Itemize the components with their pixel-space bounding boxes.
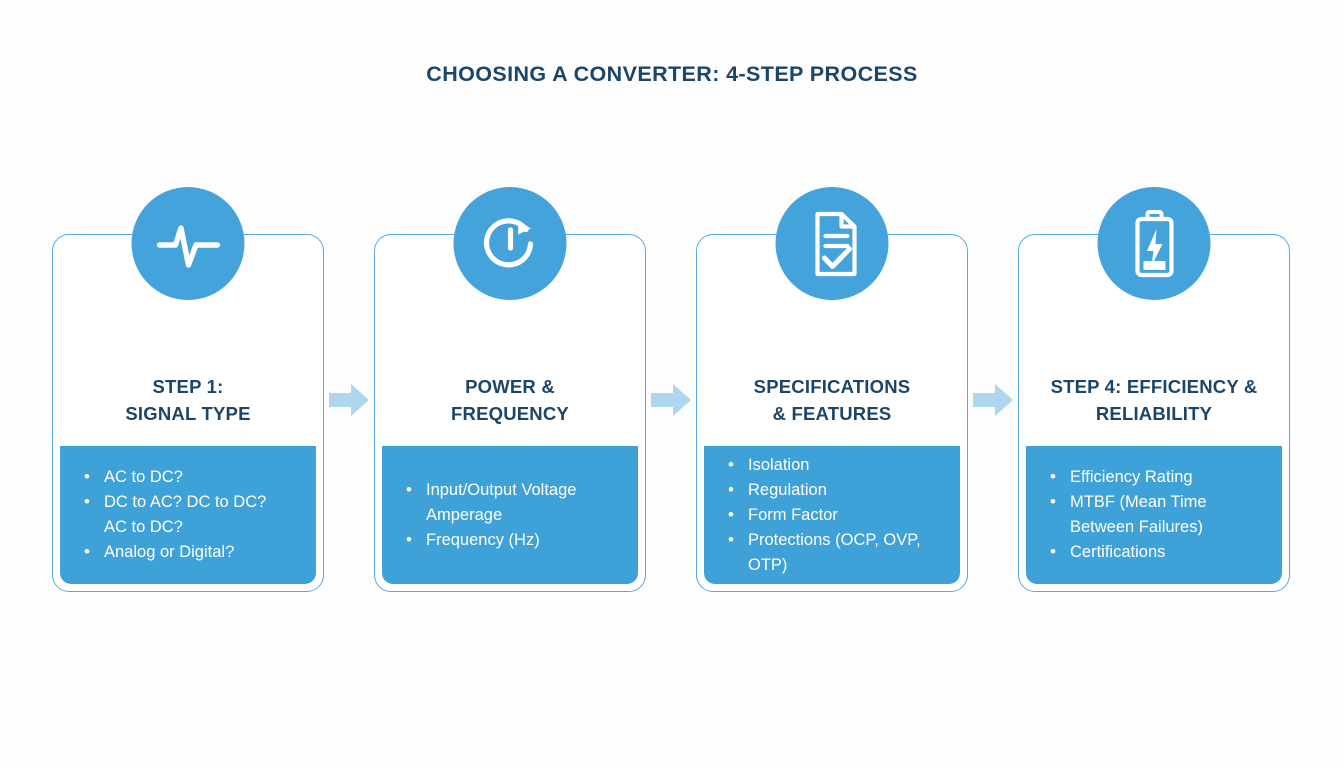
list-item: Input/Output Voltage	[398, 478, 624, 503]
list-item: Protections (OCP, OVP,	[720, 528, 946, 553]
card-heading-2-line1: POWER &	[465, 376, 555, 397]
card-body-1: AC to DC? DC to AC? DC to DC? AC to DC? …	[60, 446, 316, 584]
card-heading-4: STEP 4: EFFICIENCY & RELIABILITY	[1027, 373, 1281, 427]
bullet-list-3: Isolation Regulation Form Factor Protect…	[720, 453, 946, 578]
card-heading-1-line1: STEP 1:	[153, 376, 224, 397]
list-item: Certifications	[1042, 540, 1268, 565]
list-item: Amperage	[398, 503, 624, 528]
bullet-list-1: AC to DC? DC to AC? DC to DC? AC to DC? …	[76, 465, 302, 565]
card-heading-3: SPECIFICATIONS & FEATURES	[705, 373, 959, 427]
card-body-3: Isolation Regulation Form Factor Protect…	[704, 446, 960, 584]
list-item: Form Factor	[720, 503, 946, 528]
card-heading-3-line1: SPECIFICATIONS	[754, 376, 911, 397]
card-heading-3-line2: & FEATURES	[773, 403, 892, 424]
arrow-connector-1	[324, 187, 374, 597]
arrow-connector-2	[646, 187, 696, 597]
process-flow: STEP 1: SIGNAL TYPE AC to DC? DC to AC? …	[52, 187, 1292, 597]
arrow-connector-3	[968, 187, 1018, 597]
card-body-2: Input/Output Voltage Amperage Frequency …	[382, 446, 638, 584]
list-item: Isolation	[720, 453, 946, 478]
page-title: CHOOSING A CONVERTER: 4-STEP PROCESS	[0, 62, 1344, 87]
bullet-list-2: Input/Output Voltage Amperage Frequency …	[398, 478, 624, 553]
document-check-icon	[776, 187, 889, 300]
list-item: AC to DC?	[76, 465, 302, 490]
card-heading-1-line2: SIGNAL TYPE	[125, 403, 250, 424]
card-body-4: Efficiency Rating MTBF (Mean Time Betwee…	[1026, 446, 1282, 584]
step-card-4[interactable]: STEP 4: EFFICIENCY & RELIABILITY Efficie…	[1018, 187, 1290, 597]
bullet-list-4: Efficiency Rating MTBF (Mean Time Betwee…	[1042, 465, 1268, 565]
card-heading-4-line2: RELIABILITY	[1096, 403, 1212, 424]
gauge-timer-icon	[454, 187, 567, 300]
card-heading-1: STEP 1: SIGNAL TYPE	[61, 373, 315, 427]
list-item: AC to DC?	[76, 515, 302, 540]
list-item: Regulation	[720, 478, 946, 503]
list-item: OTP)	[720, 553, 946, 578]
arrow-right-icon	[972, 383, 1014, 417]
card-heading-2: POWER & FREQUENCY	[383, 373, 637, 427]
list-item: Analog or Digital?	[76, 540, 302, 565]
card-heading-2-line2: FREQUENCY	[451, 403, 569, 424]
list-item: MTBF (Mean Time	[1042, 490, 1268, 515]
card-heading-4-line1: STEP 4: EFFICIENCY &	[1051, 376, 1258, 397]
list-item: Efficiency Rating	[1042, 465, 1268, 490]
battery-charge-icon	[1098, 187, 1211, 300]
step-card-2[interactable]: POWER & FREQUENCY Input/Output Voltage A…	[374, 187, 646, 597]
step-card-3[interactable]: SPECIFICATIONS & FEATURES Isolation Regu…	[696, 187, 968, 597]
step-card-1[interactable]: STEP 1: SIGNAL TYPE AC to DC? DC to AC? …	[52, 187, 324, 597]
list-item: Frequency (Hz)	[398, 528, 624, 553]
list-item: Between Failures)	[1042, 515, 1268, 540]
pulse-waveform-icon	[132, 187, 245, 300]
arrow-right-icon	[650, 383, 692, 417]
arrow-right-icon	[328, 383, 370, 417]
list-item: DC to AC? DC to DC?	[76, 490, 302, 515]
